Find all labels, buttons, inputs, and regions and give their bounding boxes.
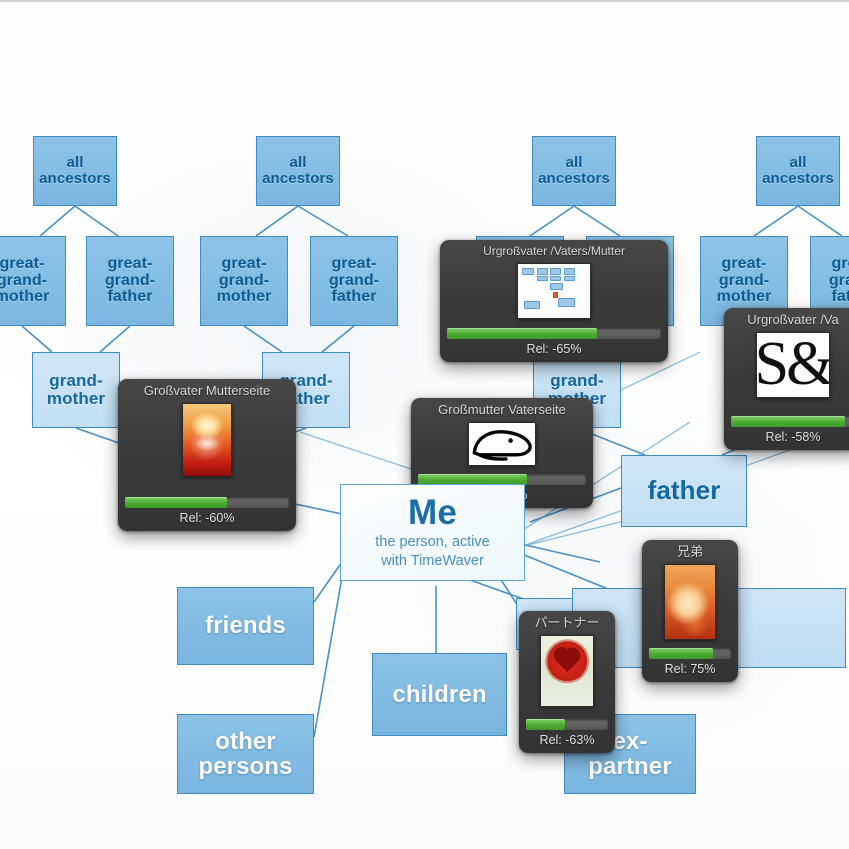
center-node-title: Me (408, 495, 457, 530)
card-thumbnail[interactable] (664, 564, 716, 640)
node-gm1[interactable]: grand-mother (32, 352, 120, 428)
card-title: パートナー (526, 616, 608, 631)
node-children[interactable]: children (372, 653, 507, 736)
node-label: allancestors (260, 155, 336, 187)
card-relevance-label: Rel: -58% (766, 430, 821, 444)
node-label: great-grand-mother (704, 256, 784, 307)
card-relevance-label: Rel: -63% (540, 733, 595, 747)
card-thumbnail[interactable] (182, 403, 232, 477)
card-title: Urgroßvater /Va (731, 313, 849, 328)
card-relevance-bar-fill (649, 648, 713, 659)
center-node-me[interactable]: Methe person, activewith TimeWaver (340, 484, 525, 581)
card-thumbnail[interactable] (468, 422, 536, 466)
card-relevance-label: Rel: 75% (665, 662, 716, 676)
card-title: Urgroßvater /Vaters/Mutter (447, 245, 661, 259)
card-sibling-jp[interactable]: 兄弟Rel: 75% (642, 540, 738, 682)
thumbnail-diagram-artwork (518, 264, 590, 318)
thumbnail-mandala-artwork (541, 636, 593, 706)
center-node-subtitle-line2: with TimeWaver (381, 552, 484, 570)
thumbnail-body-artwork (665, 565, 715, 639)
card-relevance-bar (649, 648, 731, 659)
node-friends[interactable]: friends (177, 587, 314, 665)
card-relevance-bar (125, 497, 289, 508)
card-title: Großmutter Vaterseite (418, 403, 586, 418)
card-title: Großvater Mutterseite (125, 384, 289, 399)
node-others[interactable]: otherpersons (177, 714, 314, 794)
node-label: grand-mother (36, 372, 116, 408)
node-ggf2[interactable]: great-grand-father (310, 236, 398, 326)
node-label: great-grand-mother (204, 256, 284, 307)
card-relevance-bar-fill (526, 719, 565, 730)
node-father[interactable]: father (621, 455, 747, 527)
card-urgrossvater-va[interactable]: Urgroßvater /VaS&Rel: -58% (724, 308, 849, 450)
thumbnail-fire-artwork (183, 404, 231, 476)
node-anc2[interactable]: allancestors (256, 136, 340, 206)
node-label: great-grand-father (814, 256, 849, 307)
card-relevance-bar-fill (447, 328, 597, 339)
node-ggm2[interactable]: great-grand-mother (200, 236, 288, 326)
family-tree-canvas[interactable]: allancestorsallancestorsallancestorsalla… (0, 0, 849, 849)
card-relevance-bar (447, 328, 661, 339)
node-anc4[interactable]: allancestors (756, 136, 840, 206)
node-label: allancestors (760, 155, 836, 187)
card-title: 兄弟 (649, 545, 731, 560)
card-thumbnail[interactable] (517, 263, 591, 319)
node-ggm1[interactable]: great-grand-mother (0, 236, 66, 326)
card-grossvater-mutterseite[interactable]: Großvater MutterseiteRel: -60% (118, 379, 296, 531)
card-relevance-bar-fill (125, 497, 227, 508)
thumbnail-line-drawing-artwork (469, 423, 535, 465)
node-label: great-grand-father (90, 256, 170, 307)
node-anc3[interactable]: allancestors (532, 136, 616, 206)
card-thumbnail[interactable] (540, 635, 594, 707)
node-ggf1[interactable]: great-grand-father (86, 236, 174, 326)
center-node-subtitle-line1: the person, active (375, 533, 489, 551)
node-label: father (625, 477, 743, 505)
card-relevance-bar (526, 719, 608, 730)
node-label: allancestors (536, 155, 612, 187)
node-label: friends (181, 613, 310, 638)
card-relevance-label: Rel: -60% (180, 511, 235, 525)
node-label: great-grand-father (314, 256, 394, 307)
node-label: great-grand-mother (0, 256, 62, 307)
node-label: otherpersons (181, 729, 310, 780)
card-thumbnail[interactable]: S& (756, 332, 830, 398)
node-label: allancestors (37, 155, 113, 187)
card-partner-jp[interactable]: パートナーRel: -63% (519, 611, 615, 753)
card-relevance-bar (731, 416, 849, 427)
thumbnail-ampersand-artwork: S& (757, 333, 829, 397)
node-anc1[interactable]: allancestors (33, 136, 117, 206)
card-urgrossvater-vaters-mutter[interactable]: Urgroßvater /Vaters/MutterRel: -65% (440, 240, 668, 362)
card-relevance-label: Rel: -65% (527, 342, 582, 356)
card-relevance-bar-fill (731, 416, 845, 427)
node-label: children (376, 682, 503, 707)
